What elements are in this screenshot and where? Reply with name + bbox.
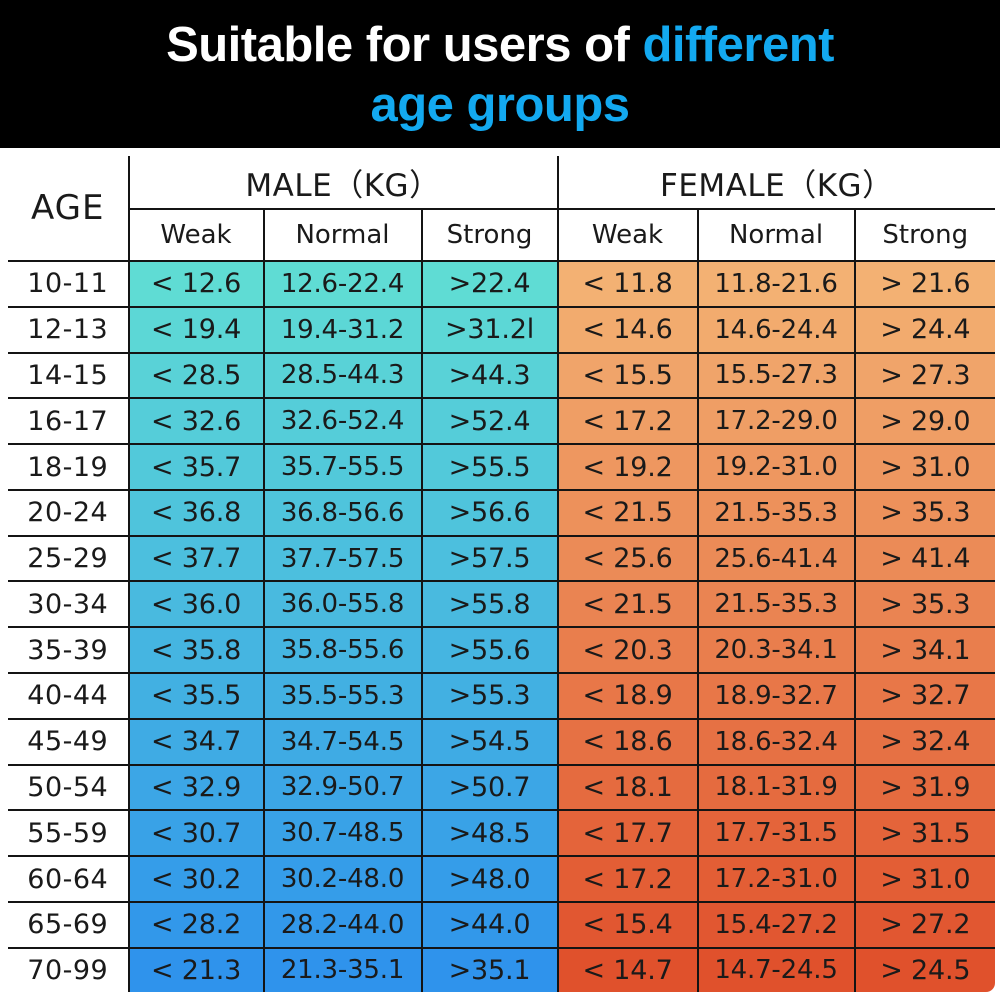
cell-age: 55-59 (7, 810, 129, 856)
table-row: 25-29< 37.737.7-57.5>57.5< 25.625.6-41.4… (7, 536, 997, 582)
banner-headline-line-2: age groups (370, 75, 629, 135)
cell-age: 65-69 (7, 902, 129, 948)
cell-male-strong: >44.3 (422, 353, 558, 399)
cell-male-strong: >31.2l (422, 307, 558, 353)
cell-male-strong: >35.1 (422, 948, 558, 994)
cell-female-weak: < 25.6 (558, 536, 698, 582)
cell-female-weak: < 17.2 (558, 856, 698, 902)
cell-age: 60-64 (7, 856, 129, 902)
table-head: AGE MALE（KG） FEMALE（KG） Weak Normal Stro… (7, 155, 997, 262)
cell-age: 70-99 (7, 948, 129, 994)
table-row: 50-54< 32.932.9-50.7>50.7< 18.118.1-31.9… (7, 765, 997, 811)
table-row: 10-11< 12.612.6-22.4>22.4< 11.811.8-21.6… (7, 261, 997, 307)
table-row: 70-99< 21.321.3-35.1>35.1< 14.714.7-24.5… (7, 948, 997, 994)
cell-male-normal: 37.7-57.5 (264, 536, 422, 582)
cell-male-strong: >22.4 (422, 261, 558, 307)
cell-female-weak: < 21.5 (558, 581, 698, 627)
table-row: 30-34< 36.036.0-55.8>55.8< 21.521.5-35.3… (7, 581, 997, 627)
cell-female-strong: > 24.4 (855, 307, 997, 353)
cell-female-weak: < 17.2 (558, 398, 698, 444)
cell-male-weak: < 12.6 (129, 261, 264, 307)
cell-male-normal: 32.6-52.4 (264, 398, 422, 444)
cell-female-strong: > 31.9 (855, 765, 997, 811)
cell-age: 20-24 (7, 490, 129, 536)
cell-male-weak: < 28.5 (129, 353, 264, 399)
cell-male-normal: 34.7-54.5 (264, 719, 422, 765)
cell-female-normal: 17.2-29.0 (698, 398, 855, 444)
cell-female-strong: > 31.0 (855, 444, 997, 490)
cell-female-normal: 21.5-35.3 (698, 490, 855, 536)
column-group-header-female: FEMALE（KG） (558, 155, 997, 210)
cell-age: 30-34 (7, 581, 129, 627)
cell-male-weak: < 32.9 (129, 765, 264, 811)
cell-female-normal: 15.4-27.2 (698, 902, 855, 948)
cell-female-weak: < 14.6 (558, 307, 698, 353)
cell-male-strong: >48.0 (422, 856, 558, 902)
cell-female-weak: < 18.1 (558, 765, 698, 811)
cell-age: 14-15 (7, 353, 129, 399)
cell-male-normal: 28.2-44.0 (264, 902, 422, 948)
cell-female-weak: < 18.6 (558, 719, 698, 765)
cell-female-normal: 21.5-35.3 (698, 581, 855, 627)
column-header-female-weak: Weak (558, 209, 698, 261)
banner-text-white: Suitable for users of (166, 18, 642, 72)
cell-male-weak: < 19.4 (129, 307, 264, 353)
cell-male-normal: 35.5-55.3 (264, 673, 422, 719)
table-head-group-row: AGE MALE（KG） FEMALE（KG） (7, 155, 997, 210)
cell-female-weak: < 21.5 (558, 490, 698, 536)
table-row: 55-59< 30.730.7-48.5>48.5< 17.717.7-31.5… (7, 810, 997, 856)
cell-age: 16-17 (7, 398, 129, 444)
cell-female-normal: 20.3-34.1 (698, 627, 855, 673)
table-row: 20-24< 36.836.8-56.6>56.6< 21.521.5-35.3… (7, 490, 997, 536)
cell-female-strong: > 29.0 (855, 398, 997, 444)
cell-male-weak: < 21.3 (129, 948, 264, 994)
cell-female-normal: 15.5-27.3 (698, 353, 855, 399)
cell-male-normal: 36.0-55.8 (264, 581, 422, 627)
cell-male-normal: 32.9-50.7 (264, 765, 422, 811)
cell-male-normal: 19.4-31.2 (264, 307, 422, 353)
cell-male-weak: < 28.2 (129, 902, 264, 948)
promo-banner: Suitable for users of different age grou… (0, 0, 1000, 148)
cell-male-weak: < 35.7 (129, 444, 264, 490)
cell-male-strong: >56.6 (422, 490, 558, 536)
cell-female-weak: < 11.8 (558, 261, 698, 307)
cell-female-weak: < 15.4 (558, 902, 698, 948)
cell-male-normal: 28.5-44.3 (264, 353, 422, 399)
column-header-male-weak: Weak (129, 209, 264, 261)
cell-age: 50-54 (7, 765, 129, 811)
cell-male-normal: 35.7-55.5 (264, 444, 422, 490)
cell-male-strong: >54.5 (422, 719, 558, 765)
cell-male-normal: 35.8-55.6 (264, 627, 422, 673)
cell-female-strong: > 34.1 (855, 627, 997, 673)
cell-male-strong: >52.4 (422, 398, 558, 444)
banner-headline-line-1: Suitable for users of different (166, 15, 834, 75)
cell-female-strong: > 32.7 (855, 673, 997, 719)
cell-female-strong: > 35.3 (855, 490, 997, 536)
table-row: 16-17< 32.632.6-52.4>52.4< 17.217.2-29.0… (7, 398, 997, 444)
cell-male-normal: 12.6-22.4 (264, 261, 422, 307)
table-body: 10-11< 12.612.6-22.4>22.4< 11.811.8-21.6… (7, 261, 997, 994)
cell-male-normal: 21.3-35.1 (264, 948, 422, 994)
cell-male-weak: < 37.7 (129, 536, 264, 582)
cell-female-normal: 25.6-41.4 (698, 536, 855, 582)
cell-female-normal: 18.9-32.7 (698, 673, 855, 719)
cell-male-weak: < 30.2 (129, 856, 264, 902)
cell-male-strong: >57.5 (422, 536, 558, 582)
cell-female-strong: > 27.3 (855, 353, 997, 399)
cell-female-normal: 17.7-31.5 (698, 810, 855, 856)
table-row: 14-15< 28.528.5-44.3>44.3< 15.515.5-27.3… (7, 353, 997, 399)
cell-female-weak: < 19.2 (558, 444, 698, 490)
table-row: 40-44< 35.535.5-55.3>55.3< 18.918.9-32.7… (7, 673, 997, 719)
table-row: 65-69< 28.228.2-44.0>44.0< 15.415.4-27.2… (7, 902, 997, 948)
cell-male-weak: < 34.7 (129, 719, 264, 765)
cell-age: 10-11 (7, 261, 129, 307)
cell-age: 40-44 (7, 673, 129, 719)
cell-female-strong: > 24.5 (855, 948, 997, 994)
column-header-male-strong: Strong (422, 209, 558, 261)
cell-female-strong: > 31.5 (855, 810, 997, 856)
cell-female-normal: 14.7-24.5 (698, 948, 855, 994)
cell-female-strong: > 21.6 (855, 261, 997, 307)
cell-female-weak: < 18.9 (558, 673, 698, 719)
column-group-header-male: MALE（KG） (129, 155, 558, 210)
cell-male-strong: >55.5 (422, 444, 558, 490)
cell-female-normal: 19.2-31.0 (698, 444, 855, 490)
cell-male-normal: 36.8-56.6 (264, 490, 422, 536)
cell-female-strong: > 31.0 (855, 856, 997, 902)
cell-age: 35-39 (7, 627, 129, 673)
column-header-female-normal: Normal (698, 209, 855, 261)
cell-female-normal: 18.1-31.9 (698, 765, 855, 811)
banner-text-accent: different (642, 18, 834, 72)
cell-age: 45-49 (7, 719, 129, 765)
cell-male-strong: >55.3 (422, 673, 558, 719)
cell-female-strong: > 27.2 (855, 902, 997, 948)
cell-female-strong: > 41.4 (855, 536, 997, 582)
cell-male-strong: >55.6 (422, 627, 558, 673)
cell-female-weak: < 15.5 (558, 353, 698, 399)
cell-male-weak: < 36.0 (129, 581, 264, 627)
cell-male-weak: < 35.8 (129, 627, 264, 673)
age-weight-table: AGE MALE（KG） FEMALE（KG） Weak Normal Stro… (5, 153, 998, 995)
table-head-sub-row: Weak Normal Strong Weak Normal Strong (7, 209, 997, 261)
table-row: 18-19< 35.735.7-55.5>55.5< 19.219.2-31.0… (7, 444, 997, 490)
table-row: 35-39< 35.835.8-55.6>55.6< 20.320.3-34.1… (7, 627, 997, 673)
cell-female-weak: < 17.7 (558, 810, 698, 856)
age-weight-table-container: AGE MALE（KG） FEMALE（KG） Weak Normal Stro… (0, 148, 1000, 1000)
cell-male-strong: >55.8 (422, 581, 558, 627)
cell-age: 18-19 (7, 444, 129, 490)
cell-male-strong: >50.7 (422, 765, 558, 811)
cell-female-normal: 11.8-21.6 (698, 261, 855, 307)
cell-female-weak: < 20.3 (558, 627, 698, 673)
table-row: 45-49< 34.734.7-54.5>54.5< 18.618.6-32.4… (7, 719, 997, 765)
cell-male-weak: < 30.7 (129, 810, 264, 856)
cell-male-normal: 30.7-48.5 (264, 810, 422, 856)
cell-female-strong: > 32.4 (855, 719, 997, 765)
cell-female-normal: 17.2-31.0 (698, 856, 855, 902)
cell-male-weak: < 36.8 (129, 490, 264, 536)
cell-age: 25-29 (7, 536, 129, 582)
cell-male-weak: < 32.6 (129, 398, 264, 444)
cell-female-normal: 14.6-24.4 (698, 307, 855, 353)
column-header-male-normal: Normal (264, 209, 422, 261)
cell-male-strong: >48.5 (422, 810, 558, 856)
cell-male-weak: < 35.5 (129, 673, 264, 719)
cell-age: 12-13 (7, 307, 129, 353)
cell-female-strong: > 35.3 (855, 581, 997, 627)
column-header-female-strong: Strong (855, 209, 997, 261)
cell-male-normal: 30.2-48.0 (264, 856, 422, 902)
table-row: 12-13< 19.419.4-31.2>31.2l< 14.614.6-24.… (7, 307, 997, 353)
cell-female-normal: 18.6-32.4 (698, 719, 855, 765)
column-header-age: AGE (7, 155, 129, 262)
cell-male-strong: >44.0 (422, 902, 558, 948)
cell-female-weak: < 14.7 (558, 948, 698, 994)
table-row: 60-64< 30.230.2-48.0>48.0< 17.217.2-31.0… (7, 856, 997, 902)
